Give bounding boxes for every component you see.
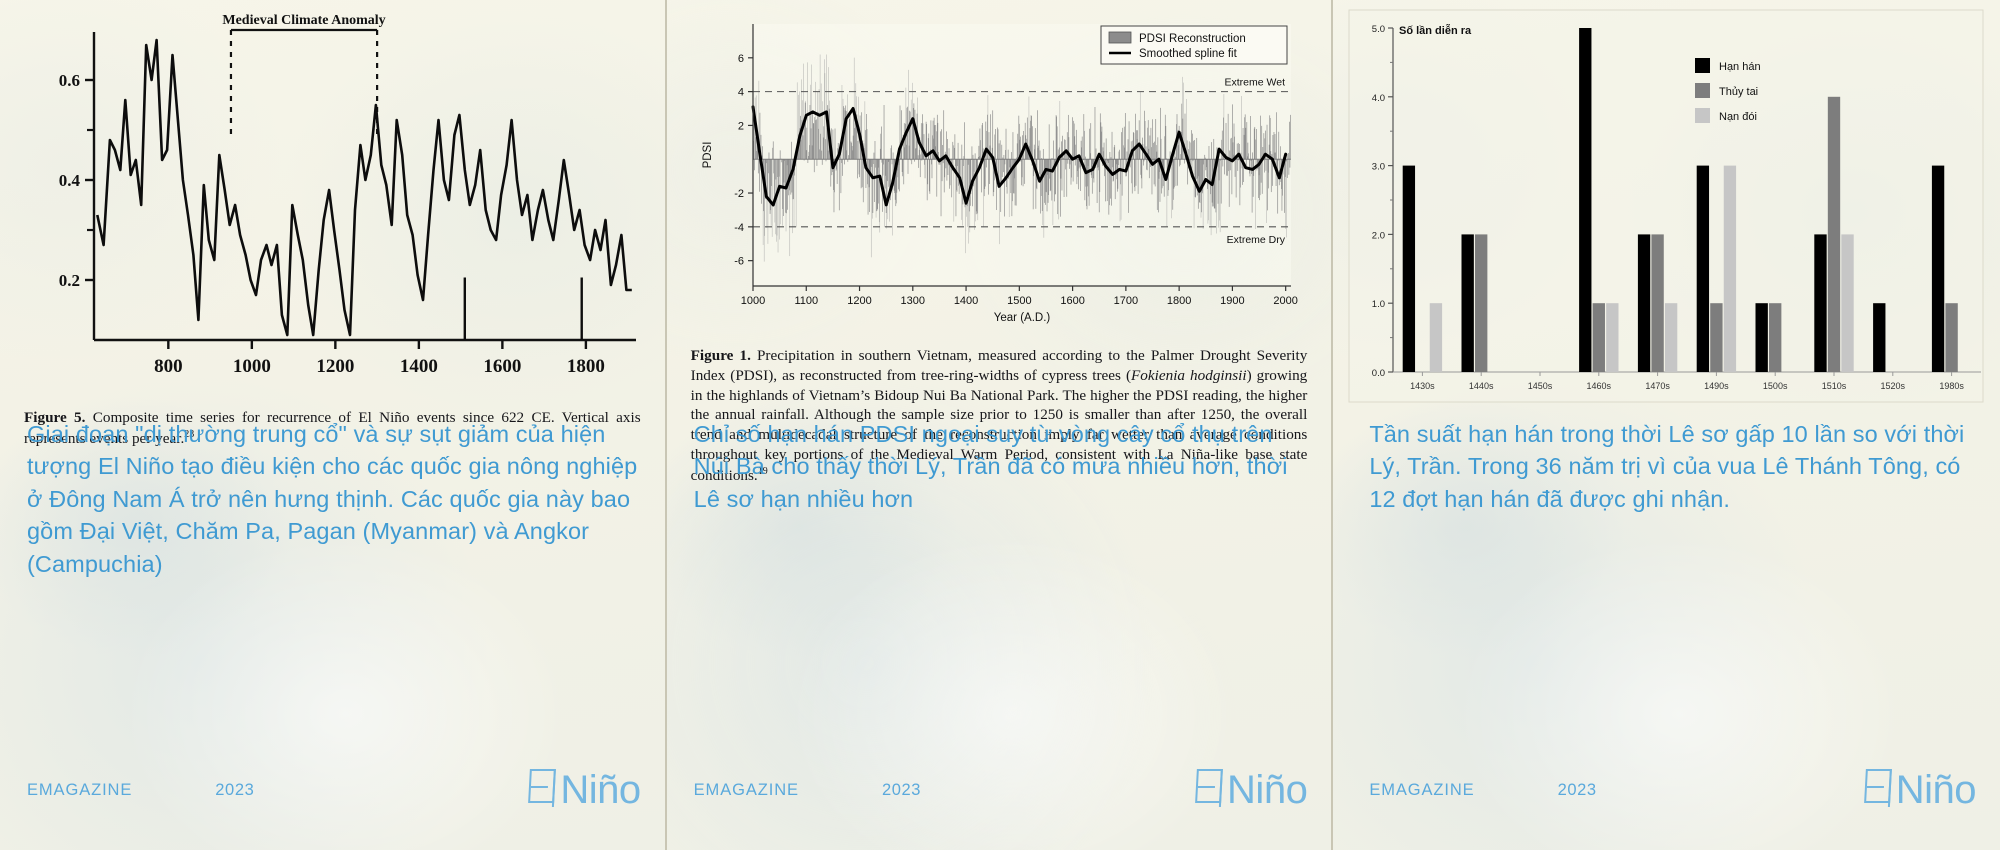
svg-text:Extreme Wet: Extreme Wet — [1224, 77, 1285, 89]
panel-2-lede: Chỉ số hạn hán PDSI ngoại suy từ vòng câ… — [694, 418, 1308, 515]
el-logo-mark-icon — [1864, 769, 1892, 803]
svg-text:4.0: 4.0 — [1372, 93, 1385, 104]
svg-text:1.0: 1.0 — [1372, 299, 1385, 310]
svg-text:5.0: 5.0 — [1372, 24, 1385, 35]
figure-area-2: Extreme WetExtreme Dry-6-4-2246PDSI10001… — [667, 0, 1332, 485]
svg-text:3.0: 3.0 — [1372, 162, 1385, 173]
svg-text:Medieval Climate Anomaly: Medieval Climate Anomaly — [222, 13, 385, 28]
svg-text:0.4: 0.4 — [59, 171, 81, 190]
svg-text:PDSI: PDSI — [702, 142, 714, 169]
footer-emagazine-label: EMAGAZINE — [27, 781, 132, 800]
svg-text:Số lần diễn ra: Số lần diễn ra — [1399, 24, 1472, 37]
figure-1-caption-prefix: Figure 1. — [691, 347, 751, 364]
svg-text:800: 800 — [154, 356, 183, 377]
svg-text:1500: 1500 — [1007, 295, 1031, 307]
emagazine-slide-deck: 0.20.40.680010001200140016001800Medieval… — [0, 0, 2000, 850]
el-nino-logo: Niño — [1865, 768, 1976, 813]
svg-text:1900: 1900 — [1220, 295, 1244, 307]
svg-text:1470s: 1470s — [1646, 381, 1671, 391]
svg-text:1300: 1300 — [900, 295, 924, 307]
panel-el-nino-recurrence: 0.20.40.680010001200140016001800Medieval… — [0, 0, 667, 850]
svg-text:2.0: 2.0 — [1372, 230, 1385, 241]
footer-emagazine-label: EMAGAZINE — [1369, 781, 1474, 800]
svg-text:-6: -6 — [734, 256, 744, 268]
svg-text:1100: 1100 — [794, 295, 818, 307]
el-nino-logo-text: Niño — [1227, 768, 1307, 813]
pdsi-reconstruction-chart: Extreme WetExtreme Dry-6-4-2246PDSI10001… — [691, 10, 1309, 340]
svg-text:6: 6 — [738, 53, 744, 65]
el-nino-logo: Niño — [1196, 768, 1307, 813]
svg-text:1460s: 1460s — [1587, 381, 1612, 391]
el-nino-logo-text: Niño — [1896, 768, 1976, 813]
svg-text:1520s: 1520s — [1881, 381, 1906, 391]
footer-year: 2023 — [1558, 781, 1597, 800]
svg-text:Thủy tai: Thủy tai — [1719, 86, 1758, 98]
svg-text:2000: 2000 — [1273, 295, 1297, 307]
svg-text:1800: 1800 — [1167, 295, 1191, 307]
svg-text:0.6: 0.6 — [59, 71, 80, 90]
svg-text:1400: 1400 — [400, 356, 438, 377]
svg-text:1000: 1000 — [233, 356, 271, 377]
svg-text:PDSI Reconstruction: PDSI Reconstruction — [1139, 33, 1246, 45]
figure-area-1: 0.20.40.680010001200140016001800Medieval… — [0, 0, 665, 449]
panel-2-footer: EMAGAZINE 2023 Niño — [667, 730, 1332, 850]
svg-text:Nạn đói: Nạn đói — [1719, 111, 1757, 123]
svg-text:4: 4 — [738, 87, 744, 99]
svg-text:1400: 1400 — [953, 295, 977, 307]
el-logo-mark-icon — [1195, 769, 1223, 803]
panel-3-footer: EMAGAZINE 2023 Niño — [1333, 730, 2000, 850]
svg-text:0.0: 0.0 — [1372, 368, 1385, 379]
svg-text:1700: 1700 — [1113, 295, 1137, 307]
footer-year: 2023 — [215, 781, 254, 800]
svg-text:1450s: 1450s — [1528, 381, 1553, 391]
el-nino-composite-timeseries-chart: 0.20.40.680010001200140016001800Medieval… — [24, 10, 642, 402]
svg-text:-4: -4 — [734, 222, 744, 234]
el-logo-mark-icon — [528, 769, 556, 803]
panel-1-footer: EMAGAZINE 2023 Niño — [0, 730, 665, 850]
svg-text:1000: 1000 — [740, 295, 764, 307]
svg-text:1200: 1200 — [316, 356, 354, 377]
svg-text:Smoothed spline fit: Smoothed spline fit — [1139, 48, 1238, 60]
figure-1-caption-species: Fokienia hodginsii — [1131, 367, 1247, 384]
svg-text:1600: 1600 — [483, 356, 521, 377]
svg-text:1440s: 1440s — [1469, 381, 1494, 391]
svg-text:1800: 1800 — [567, 356, 605, 377]
panel-3-lede: Tần suất hạn hán trong thời Lê sơ gấp 10… — [1369, 418, 1976, 515]
svg-text:1490s: 1490s — [1704, 381, 1729, 391]
svg-text:1510s: 1510s — [1822, 381, 1847, 391]
footer-emagazine-label: EMAGAZINE — [694, 781, 799, 800]
svg-text:-2: -2 — [734, 188, 744, 200]
svg-text:Hạn hán: Hạn hán — [1719, 61, 1761, 73]
svg-text:Year (A.D.): Year (A.D.) — [993, 312, 1050, 324]
svg-text:2: 2 — [738, 120, 744, 132]
svg-text:1430s: 1430s — [1410, 381, 1435, 391]
el-nino-logo: Niño — [529, 768, 640, 813]
svg-text:1200: 1200 — [847, 295, 871, 307]
panel-drought-frequency: 0.01.02.03.04.05.0Số lần diễn ra1430s144… — [1333, 0, 2000, 850]
el-nino-logo-text: Niño — [560, 768, 640, 813]
footer-year: 2023 — [882, 781, 921, 800]
panel-1-lede: Giai đoạn "dị thường trung cổ" và sự sụt… — [27, 418, 641, 580]
svg-text:1980s: 1980s — [1940, 381, 1965, 391]
svg-text:1500s: 1500s — [1763, 381, 1788, 391]
drought-frequency-chart: 0.01.02.03.04.05.0Số lần diễn ra1430s144… — [1345, 6, 1987, 406]
figure-area-3: 0.01.02.03.04.05.0Số lần diễn ra1430s144… — [1333, 0, 2000, 406]
panel-pdsi-reconstruction: Extreme WetExtreme Dry-6-4-2246PDSI10001… — [667, 0, 1334, 850]
svg-text:1600: 1600 — [1060, 295, 1084, 307]
svg-text:Extreme Dry: Extreme Dry — [1226, 234, 1285, 246]
svg-text:0.2: 0.2 — [59, 271, 80, 290]
